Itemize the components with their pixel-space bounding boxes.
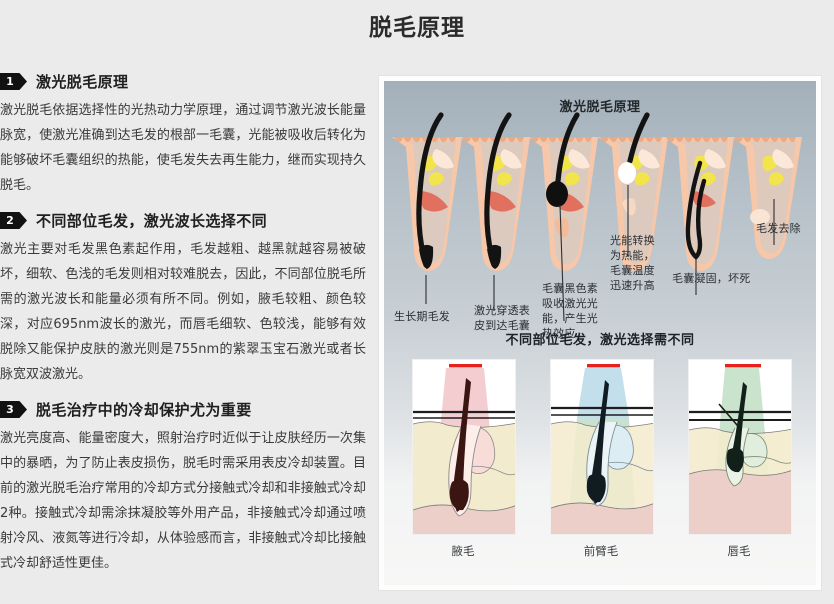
section-body: 激光主要对毛发黑色素起作用，毛发越粗、越黑就越容易被破坏，细软、色浅的毛发则相对… [0, 237, 366, 387]
article-section: 3 脱毛治疗中的冷却保护尤为重要 激光亮度高、能量密度大，照射治疗时近似于让皮肤… [0, 400, 366, 576]
section-number-badge: 3 [0, 401, 27, 418]
lip-follicle-diagram [689, 360, 792, 535]
section-body: 激光脱毛依据选择性的光热动力学原理，通过调节激光波长能量脉宽，使激光准确到达毛发… [0, 98, 366, 198]
body-area-panel-forearm [550, 359, 654, 535]
section-number-badge: 1 [0, 73, 27, 90]
panel-caption-underarm: 腋毛 [418, 543, 508, 559]
stage-label-6: 毛发去除 [756, 221, 816, 236]
underarm-follicle-diagram [413, 360, 516, 535]
section-title: 脱毛治疗中的冷却保护尤为重要 [36, 399, 252, 420]
section-body: 激光亮度高、能量密度大，照射治疗时近似于让皮肤经历一次集中的暴晒，为了防止表皮损… [0, 426, 366, 576]
figure-canvas: 激光脱毛原理 [384, 81, 816, 585]
follicle-stage-6 [732, 137, 802, 259]
article-section: 1 激光脱毛原理 激光脱毛依据选择性的光热动力学原理，通过调节激光波长能量脉宽，… [0, 72, 366, 198]
panel-caption-lip: 唇毛 [694, 543, 784, 559]
section-header: 3 脱毛治疗中的冷却保护尤为重要 [0, 400, 366, 419]
section-title: 激光脱毛原理 [36, 71, 128, 92]
body-area-panel-lip [688, 359, 792, 535]
illustration-panel: 激光脱毛原理 [378, 75, 822, 591]
stage-label-1: 生长期毛发 [394, 309, 468, 324]
article-section: 2 不同部位毛发，激光波长选择不同 激光主要对毛发黑色素起作用，毛发越粗、越黑就… [0, 211, 366, 387]
section-header: 2 不同部位毛发，激光波长选择不同 [0, 211, 366, 230]
section-number-badge: 2 [0, 212, 27, 229]
stage-label-5: 毛囊凝固，坏死 [672, 271, 768, 286]
panel-caption-forearm: 前臂毛 [556, 543, 646, 559]
article-column: 1 激光脱毛原理 激光脱毛依据选择性的光热动力学原理，通过调节激光波长能量脉宽，… [0, 72, 366, 589]
body-area-panel-underarm [412, 359, 516, 535]
stage-label-4: 光能转换 为热能， 毛囊温度 迅速升高 [610, 233, 662, 293]
figure-bottom-title: 不同部位毛发，激光选择需不同 [384, 329, 816, 348]
section-title: 不同部位毛发，激光波长选择不同 [36, 210, 267, 231]
follicle-stage-1 [392, 115, 462, 304]
page-title: 脱毛原理 [0, 8, 834, 42]
follicle-stage-2 [460, 115, 530, 311]
section-header: 1 激光脱毛原理 [0, 72, 366, 91]
forearm-follicle-diagram [551, 360, 654, 535]
